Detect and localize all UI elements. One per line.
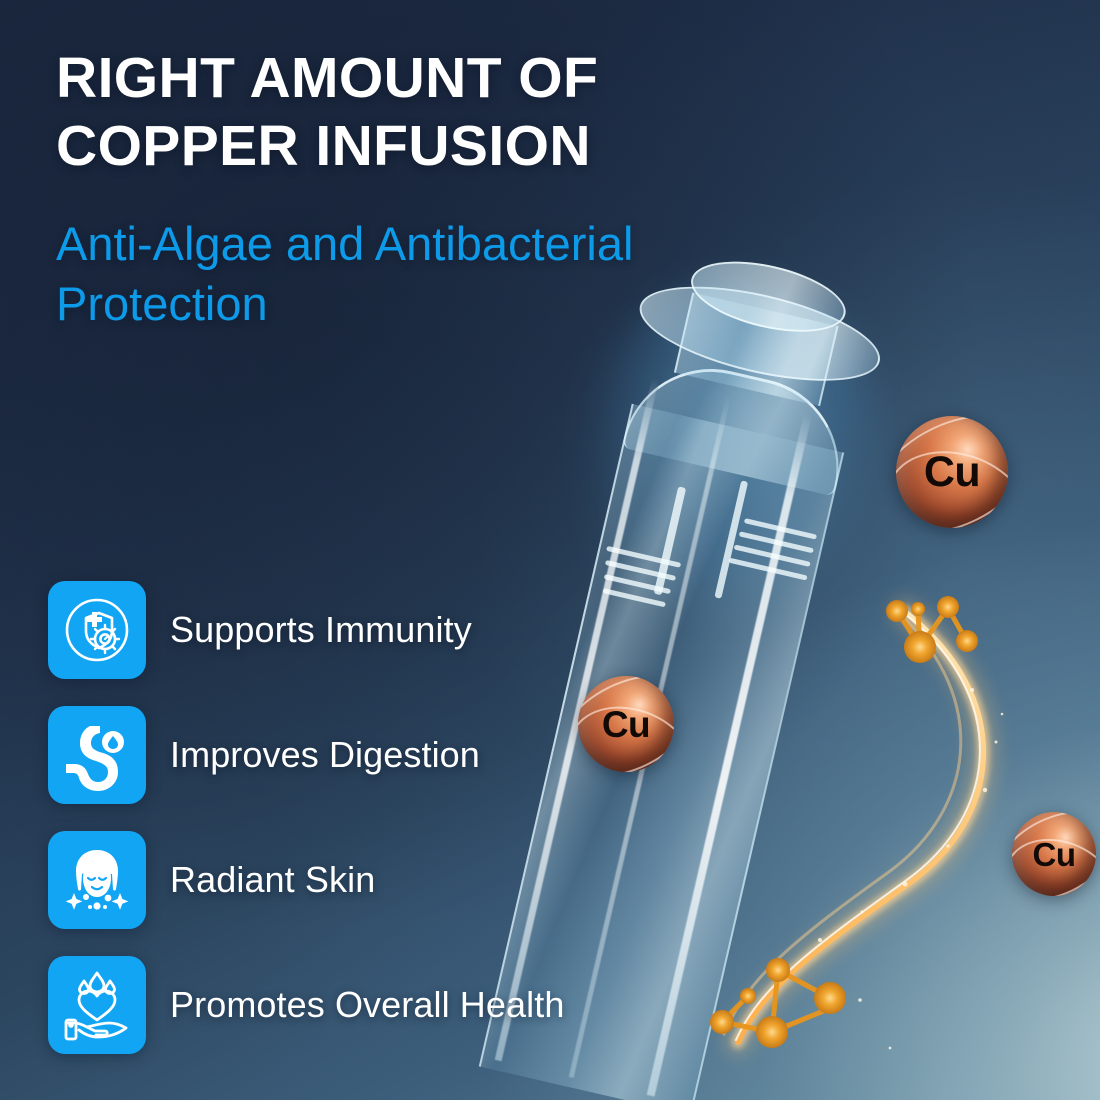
feature-list: Supports Immunity Improves Digestion [48, 581, 564, 1054]
feature-item: Radiant Skin [48, 831, 564, 929]
feature-label: Improves Digestion [170, 734, 480, 776]
hand-heart-icon [48, 956, 146, 1054]
headline-line-1: RIGHT AMOUNT OF [56, 44, 816, 112]
feature-label: Radiant Skin [170, 859, 375, 901]
subheadline: Anti-Algae and Antibacterial Protection [56, 214, 846, 333]
feature-item: Supports Immunity [48, 581, 564, 679]
copper-symbol: Cu [924, 451, 980, 494]
headline-line-2: COPPER INFUSION [56, 112, 816, 180]
feature-label: Supports Immunity [170, 609, 472, 651]
copper-symbol: Cu [602, 706, 650, 743]
headline: RIGHT AMOUNT OF COPPER INFUSION [56, 44, 816, 181]
shield-virus-icon [48, 581, 146, 679]
copper-particle: Cu [578, 676, 674, 772]
feature-label: Promotes Overall Health [170, 984, 564, 1026]
copper-particle: Cu [1012, 812, 1096, 896]
copper-particle: Cu [896, 416, 1008, 528]
product-banner: Cu Cu Cu RIGHT AMOUNT OF COPPER INFUSION… [0, 0, 1100, 1100]
stomach-droplet-icon [48, 706, 146, 804]
glowing-face-icon [48, 831, 146, 929]
feature-item: Improves Digestion [48, 706, 564, 804]
feature-item: Promotes Overall Health [48, 956, 564, 1054]
copper-symbol: Cu [1033, 838, 1076, 871]
